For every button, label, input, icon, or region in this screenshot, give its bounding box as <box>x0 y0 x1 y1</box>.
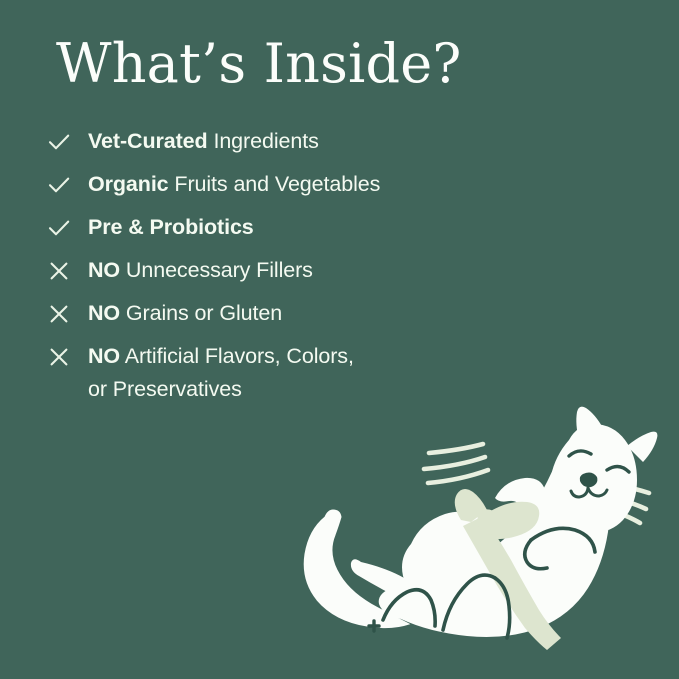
list-item-rest: Fruits and Vegetables <box>169 172 381 196</box>
list-item-emphasis: NO <box>88 258 120 282</box>
list-item: NO Unnecessary Fillers <box>46 255 606 298</box>
whats-inside-panel: What’s Inside? Vet-Curated Ingredients O… <box>0 0 679 679</box>
list-item-text: NO Artificial Flavors, Colors, or Preser… <box>88 341 354 403</box>
check-icon <box>46 172 88 202</box>
whiskers-left <box>424 444 488 483</box>
feature-list: Vet-Curated Ingredients Organic Fruits a… <box>46 126 606 417</box>
list-item-rest: Grains or Gluten <box>120 301 282 325</box>
list-item-text: NO Unnecessary Fillers <box>88 255 313 284</box>
x-icon <box>46 301 88 331</box>
list-item-rest: Unnecessary Fillers <box>120 258 313 282</box>
list-item-text: Pre & Probiotics <box>88 212 254 241</box>
list-item-rest: Artificial Flavors, Colors, <box>120 344 354 368</box>
check-icon <box>46 129 88 159</box>
x-icon <box>46 344 88 374</box>
list-item-emphasis: Organic <box>88 172 169 196</box>
list-item-emphasis: Pre & Probiotics <box>88 215 254 239</box>
page-title: What’s Inside? <box>56 34 462 94</box>
list-item-emphasis: Vet-Curated <box>88 129 208 153</box>
list-item-rest: Ingredients <box>208 129 319 153</box>
check-icon <box>46 215 88 245</box>
list-item: Vet-Curated Ingredients <box>46 126 606 169</box>
reclining-cat-illustration <box>283 404 679 679</box>
list-item-emphasis: NO <box>88 344 120 368</box>
list-item-text: NO Grains or Gluten <box>88 298 282 327</box>
list-item-emphasis: NO <box>88 301 120 325</box>
list-item-second-line: or Preservatives <box>88 375 354 403</box>
list-item: Organic Fruits and Vegetables <box>46 169 606 212</box>
list-item-text: Vet-Curated Ingredients <box>88 126 319 155</box>
x-icon <box>46 258 88 288</box>
list-item: Pre & Probiotics <box>46 212 606 255</box>
list-item-text: Organic Fruits and Vegetables <box>88 169 380 198</box>
list-item: NO Grains or Gluten <box>46 298 606 341</box>
